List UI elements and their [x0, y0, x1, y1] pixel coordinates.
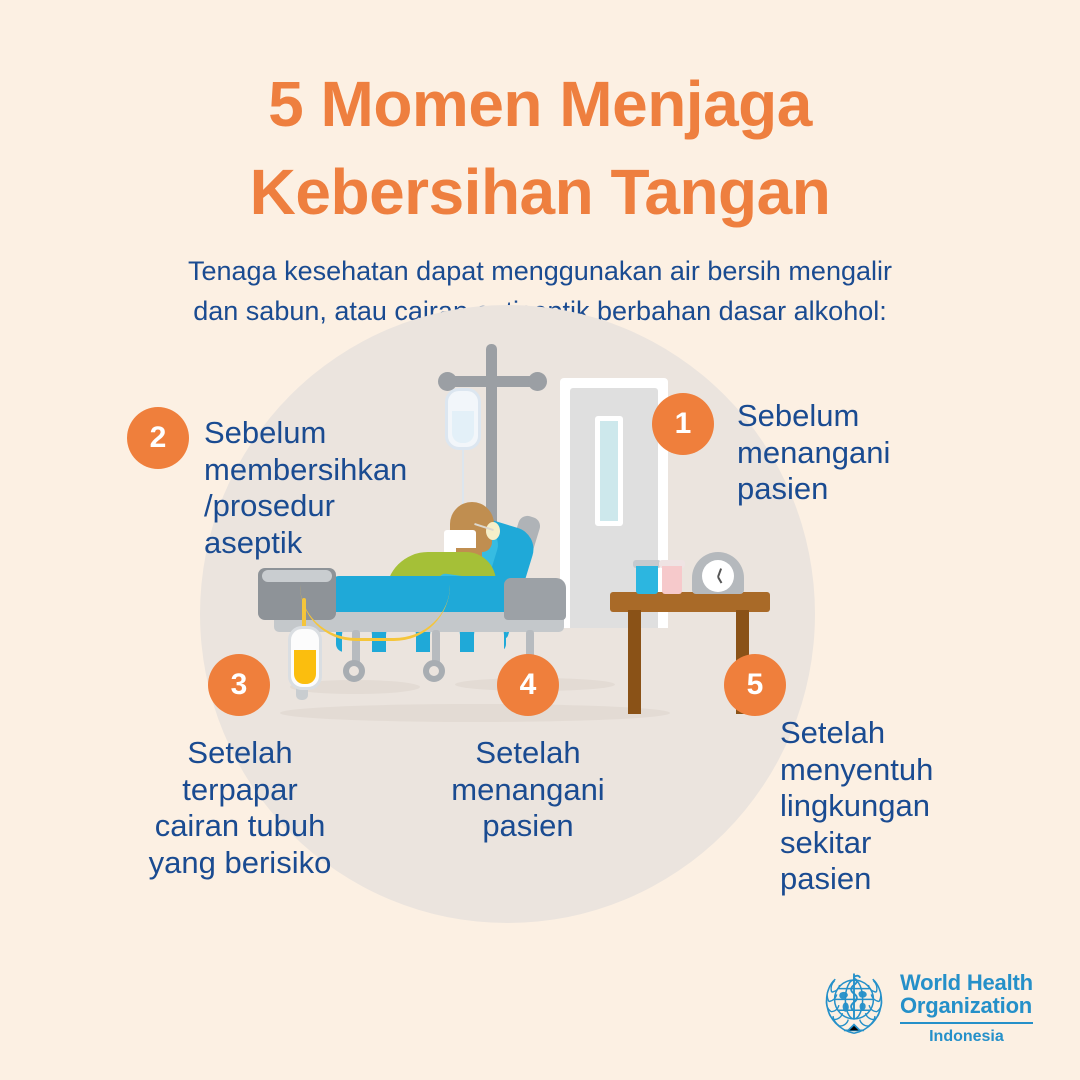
door-window	[595, 416, 623, 526]
who-country-label: Indonesia	[900, 1028, 1033, 1046]
step-badge-2[interactable]: 2	[127, 407, 189, 469]
step-number-4: 4	[520, 670, 537, 700]
step-label-2: Sebelum membersihkan /prosedur aseptik	[204, 415, 504, 561]
step-number-1: 1	[675, 409, 692, 439]
step-badge-5[interactable]: 5	[724, 654, 786, 716]
step-badge-4[interactable]: 4	[497, 654, 559, 716]
step-label-3: Setelah terpapar cairan tubuh yang beris…	[114, 735, 366, 881]
title-line-2: Kebersihan Tangan	[0, 160, 1080, 224]
cup-blue-icon	[636, 566, 658, 594]
side-table-leg-left	[628, 610, 641, 714]
side-table-top	[610, 592, 770, 612]
bed-wheel	[343, 660, 365, 682]
who-divider	[900, 1022, 1033, 1024]
bed-wheel	[423, 660, 445, 682]
urine-bag-icon	[288, 626, 322, 690]
iv-pole-knob-right	[528, 372, 547, 391]
who-emblem-icon	[818, 967, 890, 1039]
step-number-3: 3	[231, 670, 248, 700]
title-line-1: 5 Momen Menjaga	[268, 68, 812, 140]
page-title: 5 Momen Menjaga Kebersihan Tangan	[0, 72, 1080, 224]
step-number-5: 5	[747, 670, 764, 700]
step-badge-3[interactable]: 3	[208, 654, 270, 716]
cup-pink-icon	[662, 566, 682, 594]
bed-footboard-top	[262, 570, 332, 582]
step-label-1: Sebelum menangani pasien	[737, 398, 1007, 508]
bed-side-rail	[504, 578, 566, 620]
step-label-4: Setelah menangani pasien	[408, 735, 648, 845]
step-badge-1[interactable]: 1	[652, 393, 714, 455]
who-wordmark: World Health Organization Indonesia	[900, 965, 1033, 1046]
floor-shadow	[280, 704, 670, 722]
who-logo: World Health Organization Indonesia	[818, 965, 1033, 1057]
step-number-2: 2	[150, 423, 167, 453]
urine-bag-fluid	[294, 650, 316, 684]
infographic-canvas: 5 Momen Menjaga Kebersihan Tangan Tenaga…	[0, 0, 1080, 1080]
step-label-5: Setelah menyentuh lingkungan sekitar pas…	[780, 715, 1030, 898]
who-organization-name: World Health Organization	[900, 971, 1033, 1018]
